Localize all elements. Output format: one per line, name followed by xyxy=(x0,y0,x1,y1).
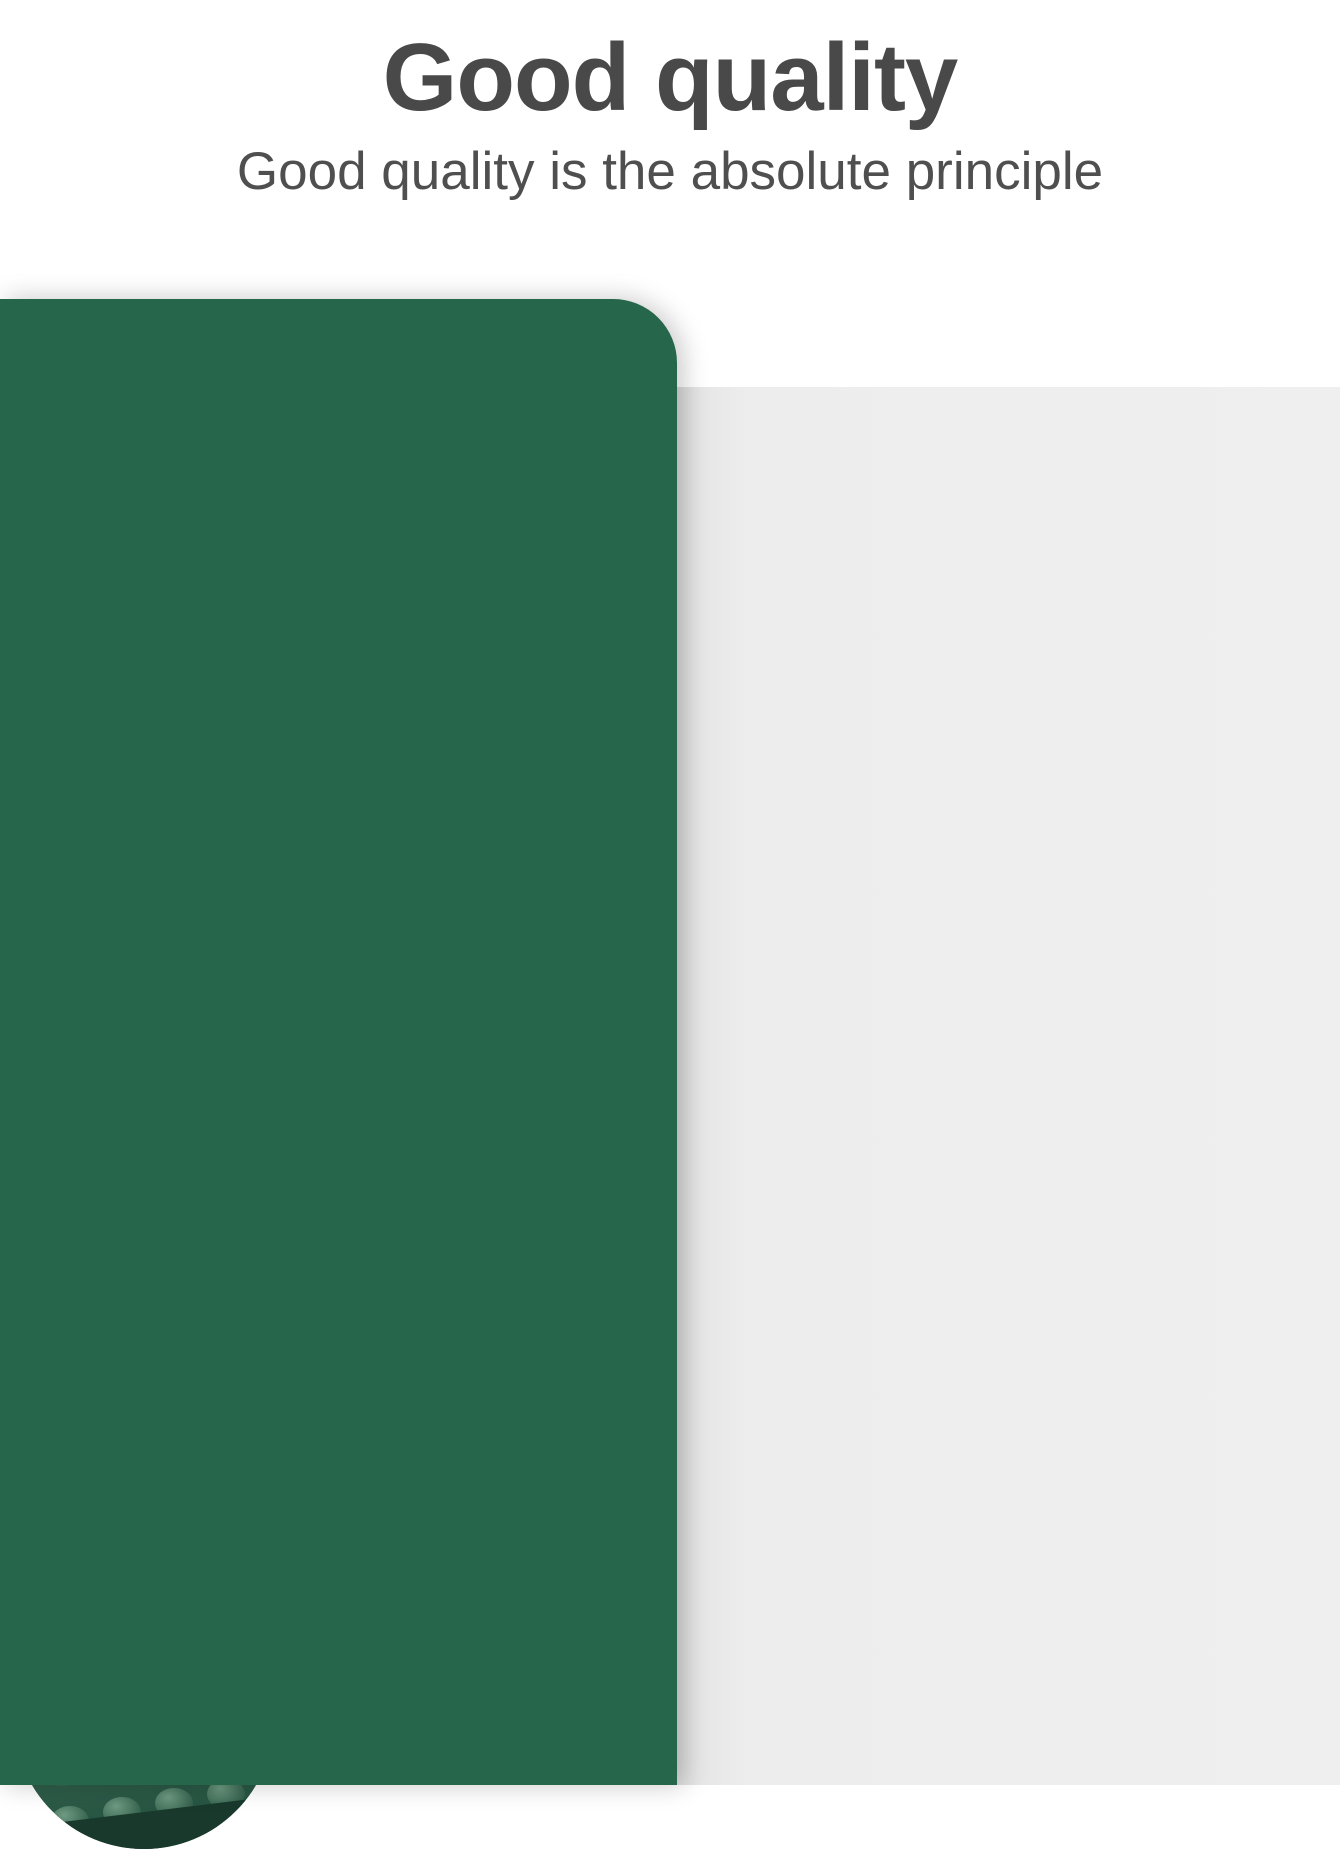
page-title: Good quality xyxy=(0,26,1340,130)
comparison-section: ours Other xyxy=(0,299,1340,1785)
page-header: Good quality Good quality is the absolut… xyxy=(0,0,1340,201)
page-subtitle: Good quality is the absolute principle xyxy=(0,142,1340,201)
other-panel xyxy=(677,387,1340,1785)
ours-panel xyxy=(0,299,677,1785)
